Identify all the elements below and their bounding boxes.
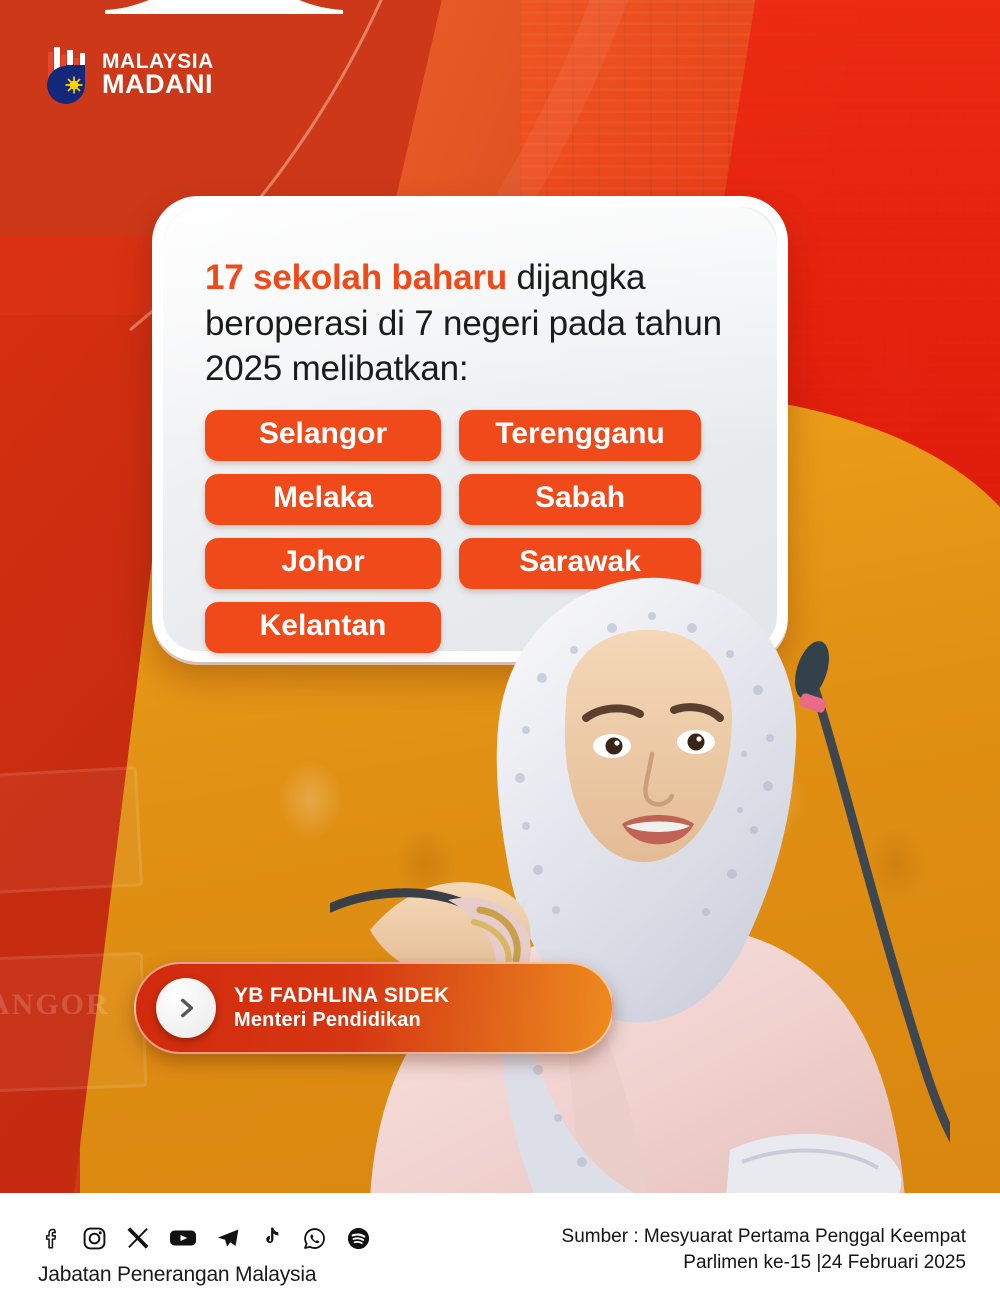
social-block: Jabatan Penerangan Malaysia (38, 1217, 372, 1287)
source-line-1: Sumber : Mesyuarat Pertama Penggal Keemp… (562, 1224, 966, 1250)
source-line-2: Parlimen ke-15 |24 Februari 2025 (562, 1250, 966, 1276)
state-row-1: Selangor Terengganu (205, 410, 735, 461)
state-pill-terengganu[interactable]: Terengganu (459, 410, 701, 461)
whatsapp-icon[interactable] (301, 1225, 328, 1252)
source-block: Sumber : Mesyuarat Pertama Penggal Keemp… (562, 1224, 966, 1280)
state-pill-sabah[interactable]: Sabah (459, 474, 701, 525)
social-icon-row (38, 1221, 372, 1255)
footer-notch-shape (105, 0, 343, 14)
speaker-name: YB FADHLINA SIDEK (234, 984, 450, 1009)
background-plaque-1 (0, 766, 143, 894)
logo-wordmark: MALAYSIA MADANI (102, 52, 214, 98)
state-pill-melaka[interactable]: Melaka (205, 474, 441, 525)
headline: 17 sekolah baharu dijangka beroperasi di… (205, 255, 735, 392)
malaysia-madani-logo: MALAYSIA MADANI (40, 46, 214, 104)
poster-root: ANGOR (0, 0, 1000, 1311)
telegram-icon[interactable] (215, 1225, 241, 1251)
state-pill-selangor[interactable]: Selangor (205, 410, 441, 461)
speaker-badge[interactable]: YB FADHLINA SIDEK Menteri Pendidikan (134, 962, 614, 1054)
speaker-text: YB FADHLINA SIDEK Menteri Pendidikan (234, 984, 450, 1032)
facebook-icon[interactable] (38, 1225, 64, 1251)
headline-highlight: 17 sekolah baharu (205, 258, 507, 297)
x-twitter-icon[interactable] (125, 1225, 151, 1251)
state-row-2: Melaka Sabah (205, 474, 735, 525)
youtube-icon[interactable] (168, 1223, 198, 1253)
minister-photo (330, 558, 950, 1198)
chevron-right-icon[interactable] (156, 978, 216, 1038)
speaker-role: Menteri Pendidikan (234, 1009, 450, 1033)
logo-line-madani: MADANI (102, 72, 214, 98)
instagram-icon[interactable] (81, 1225, 108, 1252)
tiktok-icon[interactable] (258, 1225, 284, 1251)
background-plaque-2 (0, 952, 147, 1093)
department-label: Jabatan Penerangan Malaysia (38, 1263, 372, 1287)
malaysia-madani-crescent-star-logo (40, 46, 92, 104)
spotify-icon[interactable] (345, 1225, 372, 1252)
footer: Jabatan Penerangan Malaysia Sumber : Mes… (0, 1193, 1000, 1311)
background-plaque-label: ANGOR (0, 988, 110, 1022)
